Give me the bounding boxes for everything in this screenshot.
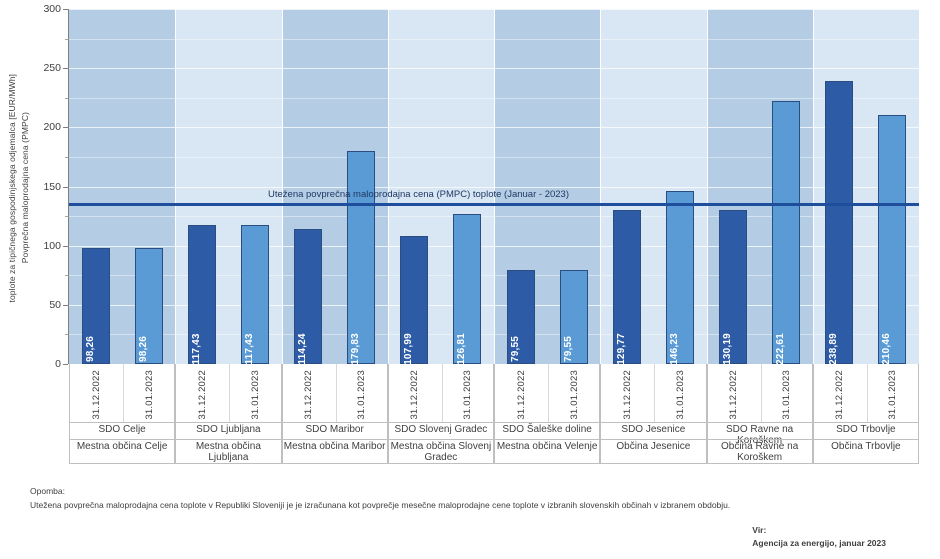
axis-divider xyxy=(283,439,387,440)
category-date-label: 31.12.2022 xyxy=(197,370,208,420)
bar-value-label: 238,89 xyxy=(828,333,839,364)
bar-value-label: 98,26 xyxy=(85,336,96,362)
category-date-label: 31.01.2023 xyxy=(144,370,155,420)
y-tick-label: 300 xyxy=(43,3,61,15)
category-sdo-label: SDO Ljubljana xyxy=(176,424,280,435)
category-sdo-label: SDO Maribor xyxy=(283,424,387,435)
axis-divider xyxy=(389,439,493,440)
category-date-label: 31.12.2022 xyxy=(303,370,314,420)
axis-divider xyxy=(389,422,493,423)
category-municipality-line: Občina Trbovlje xyxy=(814,441,918,452)
bar[interactable]: 146,23 xyxy=(666,191,694,364)
bar-value-label: 117,43 xyxy=(244,333,255,364)
category-group: 31.12.202231.01.2023SDO MariborMestna ob… xyxy=(282,364,388,464)
bar[interactable]: 114,24 xyxy=(294,229,322,364)
category-sdo-label: SDO Celje xyxy=(70,424,174,435)
bar[interactable]: 117,43 xyxy=(188,225,216,364)
category-municipality-label: Mestna občina Ljubljana xyxy=(176,441,280,463)
axis-divider xyxy=(708,422,812,423)
category-dates: 31.12.202231.01.2023 xyxy=(176,364,280,422)
category-group: 31.12.202231.01.2023SDO CeljeMestna obči… xyxy=(69,364,175,464)
y-tick-label: 200 xyxy=(43,121,61,133)
category-date-label: 31.12.2022 xyxy=(409,370,420,420)
bar[interactable]: 98,26 xyxy=(82,248,110,364)
axis-divider xyxy=(176,439,280,440)
bar-value-label: 222,61 xyxy=(775,333,786,364)
source-note: Vir: Agencija za energijo, januar 2023 xyxy=(752,524,886,550)
reference-line-label: Utežena povprečna maloprodajna cena (PMP… xyxy=(268,189,569,200)
category-municipality-label: Mestna občina SlovenjGradec xyxy=(389,441,493,463)
category-date-label: 31.01.2023 xyxy=(250,370,261,420)
bar-value-label: 98,26 xyxy=(138,336,149,362)
bar[interactable]: 238,89 xyxy=(825,81,853,364)
category-municipality-label: Občina Jesenice xyxy=(601,441,705,452)
axis-divider xyxy=(495,422,599,423)
bar-value-label: 130,19 xyxy=(722,333,733,364)
category-sdo-label: SDO Šaleške doline xyxy=(495,424,599,435)
bar-value-label: 146,23 xyxy=(669,333,680,364)
category-date-label: 31.12.2022 xyxy=(728,370,739,420)
date-divider xyxy=(123,364,124,422)
y-tick-label: 0 xyxy=(55,358,61,370)
category-date-label: 31.01.2023 xyxy=(781,370,792,420)
gridline xyxy=(69,9,919,10)
category-dates: 31.12.202231.01.2023 xyxy=(283,364,387,422)
bar[interactable]: 222,61 xyxy=(772,101,800,364)
category-municipality-line: Mestna občina Slovenj xyxy=(389,441,493,452)
category-group: 31.12.202231.01.2023SDO TrbovljeObčina T… xyxy=(813,364,919,464)
axis-divider xyxy=(814,439,918,440)
date-divider xyxy=(548,364,549,422)
reference-line xyxy=(69,203,919,206)
y-tick-label: 250 xyxy=(43,62,61,74)
bar-value-label: 79,55 xyxy=(563,336,574,362)
bar-value-label: 107,99 xyxy=(403,333,414,364)
axis-divider xyxy=(176,422,280,423)
chart-container: toplote za tipičnega gospodinjskega odje… xyxy=(0,0,940,559)
y-axis-title-line2: toplote za tipičnega gospodinjskega odje… xyxy=(6,74,19,303)
date-divider xyxy=(761,364,762,422)
bar-value-label: 117,43 xyxy=(191,333,202,364)
axis-divider xyxy=(814,422,918,423)
date-divider xyxy=(867,364,868,422)
bar[interactable]: 210,46 xyxy=(878,115,906,364)
category-group: 31.12.202231.01.2023SDO Ravne na Koroške… xyxy=(707,364,813,464)
category-dates: 31.12.202231.01.2023 xyxy=(708,364,812,422)
bar-value-label: 114,24 xyxy=(297,333,308,364)
category-group: 31.12.202231.01.2023SDO Slovenj GradecMe… xyxy=(388,364,494,464)
category-group: 31.12.202231.01.2023SDO Šaleške dolineMe… xyxy=(494,364,600,464)
category-municipality-line: Gradec xyxy=(389,452,493,463)
bar-value-label: 179,83 xyxy=(350,333,361,364)
category-date-label: 31.12.2022 xyxy=(91,370,102,420)
bar-value-label: 210,46 xyxy=(881,333,892,364)
footnote-text: Utežena povprečna maloprodajna cena topl… xyxy=(30,498,730,512)
axis-divider xyxy=(495,439,599,440)
axis-divider xyxy=(283,422,387,423)
bar[interactable]: 130,19 xyxy=(719,210,747,364)
category-municipality-line: Mestna občina Celje xyxy=(70,441,174,452)
axis-divider xyxy=(70,439,174,440)
date-divider xyxy=(229,364,230,422)
category-sdo-label: SDO Trbovlje xyxy=(814,424,918,435)
date-divider xyxy=(442,364,443,422)
category-dates: 31.12.202231.01.2023 xyxy=(70,364,174,422)
category-date-label: 31.12.2022 xyxy=(834,370,845,420)
axis-divider xyxy=(70,422,174,423)
bar[interactable]: 179,83 xyxy=(347,151,375,364)
category-municipality-label: Mestna občina Celje xyxy=(70,441,174,452)
category-dates: 31.12.202231.01.2023 xyxy=(495,364,599,422)
y-tick-label: 150 xyxy=(43,181,61,193)
bar[interactable]: 126,81 xyxy=(453,214,481,364)
category-date-label: 31.01.2023 xyxy=(887,370,898,420)
source-heading: Vir: xyxy=(752,524,886,537)
category-date-label: 31.01.2023 xyxy=(356,370,367,420)
y-axis-title: toplote za tipičnega gospodinjskega odje… xyxy=(4,8,34,368)
category-municipality-label: Občina Trbovlje xyxy=(814,441,918,452)
date-divider xyxy=(336,364,337,422)
category-sdo-label: SDO Slovenj Gradec xyxy=(389,424,493,435)
bar[interactable]: 79,55 xyxy=(560,270,588,364)
date-divider xyxy=(654,364,655,422)
category-municipality-line: Koroškem xyxy=(708,452,812,463)
category-dates: 31.12.202231.01.2023 xyxy=(389,364,493,422)
category-date-label: 31.01.2023 xyxy=(462,370,473,420)
category-municipality-line: Mestna občina Maribor xyxy=(283,441,387,452)
category-date-label: 31.01.2023 xyxy=(569,370,580,420)
footnote-heading: Opomba: xyxy=(30,484,730,498)
category-municipality-label: Mestna občina Velenje xyxy=(495,441,599,452)
category-municipality-label: Mestna občina Maribor xyxy=(283,441,387,452)
bar[interactable]: 79,55 xyxy=(507,270,535,364)
source-text: Agencija za energijo, januar 2023 xyxy=(752,537,886,550)
category-axis: 31.12.202231.01.2023SDO CeljeMestna obči… xyxy=(69,364,919,464)
axis-divider xyxy=(601,439,705,440)
y-axis-ticks: 050100150200250300 xyxy=(34,0,68,370)
category-municipality-line: Mestna občina Velenje xyxy=(495,441,599,452)
axis-divider xyxy=(601,422,705,423)
bar[interactable]: 107,99 xyxy=(400,236,428,364)
y-tick-label: 50 xyxy=(49,299,61,311)
category-date-label: 31.01.2023 xyxy=(675,370,686,420)
bar[interactable]: 129,77 xyxy=(613,210,641,364)
bar-value-label: 129,77 xyxy=(616,333,627,364)
gridline xyxy=(69,68,919,69)
category-municipality-line: Občina Jesenice xyxy=(601,441,705,452)
category-municipality-line: Mestna občina Ljubljana xyxy=(176,441,280,463)
bar[interactable]: 117,43 xyxy=(241,225,269,364)
gridline-minor xyxy=(69,39,919,40)
category-municipality-label: Občina Ravne naKoroškem xyxy=(708,441,812,463)
gridline-minor xyxy=(69,98,919,99)
footnote: Opomba: Utežena povprečna maloprodajna c… xyxy=(30,484,730,512)
plot-area: 98,26117,43114,24107,9979,55129,77130,19… xyxy=(69,9,919,364)
bar[interactable]: 98,26 xyxy=(135,248,163,364)
category-group: 31.12.202231.01.2023SDO JeseniceObčina J… xyxy=(600,364,706,464)
category-group: 31.12.202231.01.2023SDO LjubljanaMestna … xyxy=(175,364,281,464)
bar-value-label: 126,81 xyxy=(456,333,467,364)
category-municipality-line: Občina Ravne na xyxy=(708,441,812,452)
category-date-label: 31.12.2022 xyxy=(516,370,527,420)
y-tick-mark xyxy=(63,364,68,365)
bar-value-label: 79,55 xyxy=(510,336,521,362)
category-dates: 31.12.202231.01.2023 xyxy=(814,364,918,422)
axis-divider xyxy=(708,439,812,440)
y-tick-label: 100 xyxy=(43,240,61,252)
y-axis-title-line1: Povprečna maloprodajna cena (PMPC) xyxy=(19,112,32,263)
category-dates: 31.12.202231.01.2023 xyxy=(601,364,705,422)
category-date-label: 31.12.2022 xyxy=(622,370,633,420)
category-sdo-label: SDO Jesenice xyxy=(601,424,705,435)
